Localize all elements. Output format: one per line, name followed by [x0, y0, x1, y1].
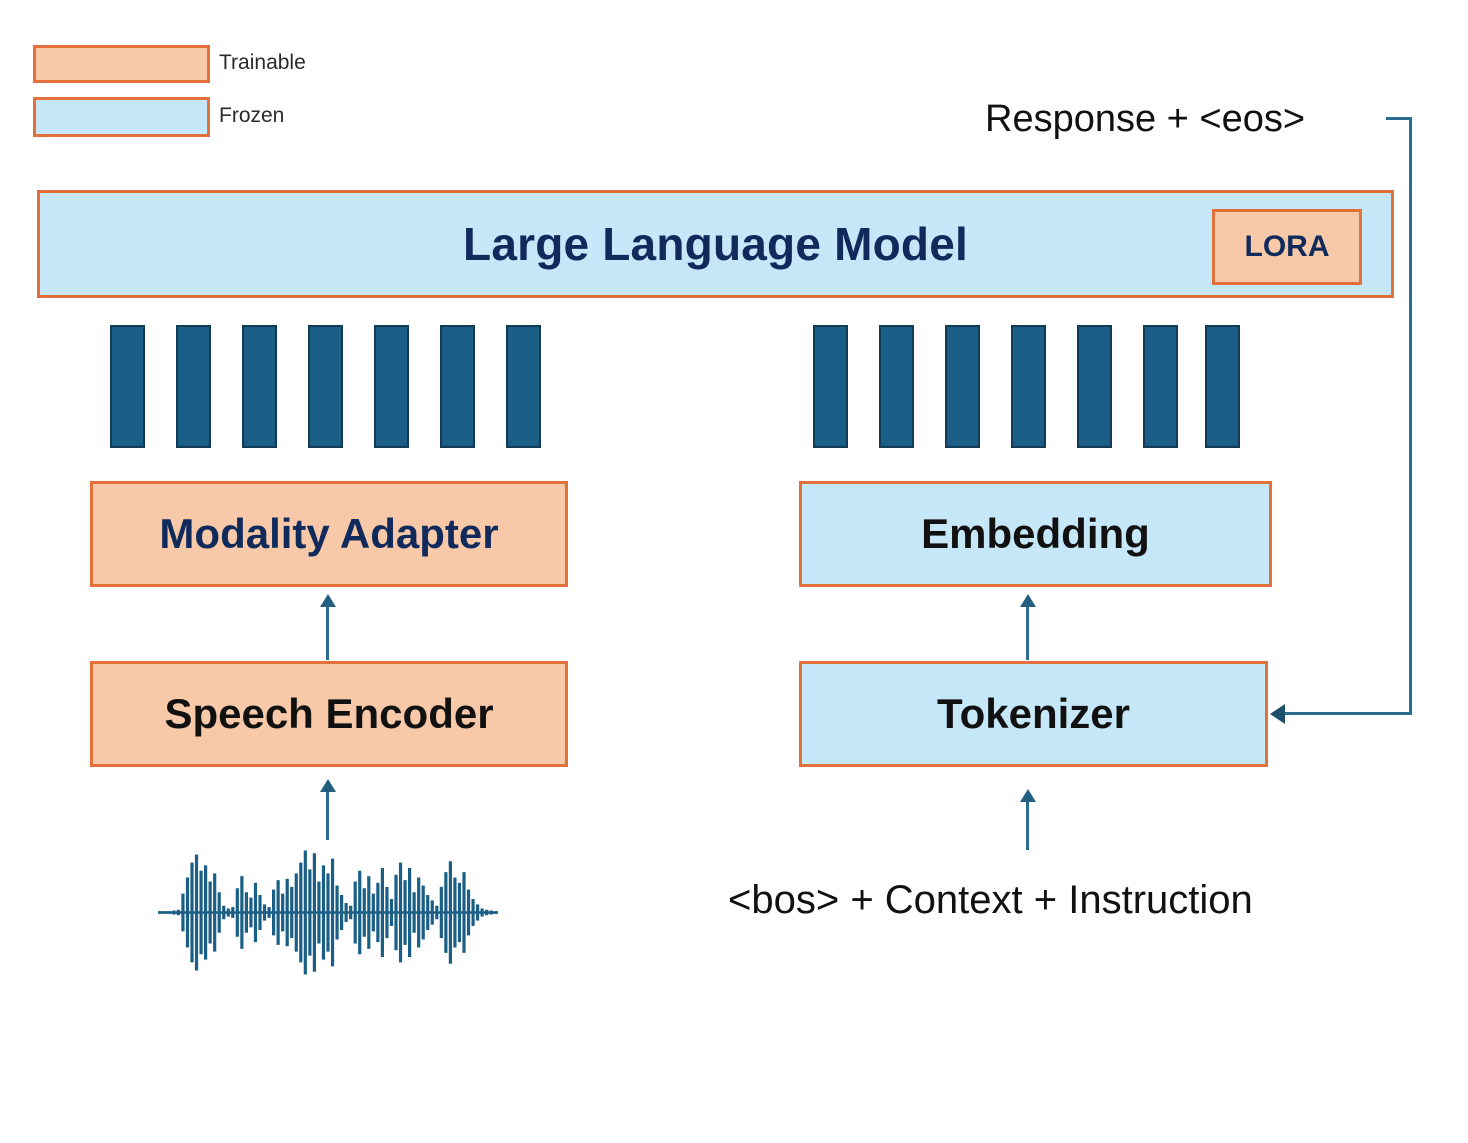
- diagram-canvas: Trainable Frozen Response + <eos> Large …: [0, 0, 1468, 1143]
- token-bar: [813, 325, 848, 448]
- arrow-prompt-to-tokenizer: [1026, 800, 1029, 850]
- legend-swatch-frozen: [33, 97, 210, 137]
- node-label-large-language-model: Large Language Model: [463, 220, 968, 268]
- token-bar: [1011, 325, 1046, 448]
- node-label-tokenizer: Tokenizer: [937, 692, 1130, 736]
- legend-label-frozen: Frozen: [219, 104, 284, 128]
- node-embedding[interactable]: Embedding: [799, 481, 1272, 587]
- arrow-waveform-to-speech-encoder: [326, 790, 329, 840]
- feedback-line-bottom: [1285, 712, 1412, 715]
- token-bar: [945, 325, 980, 448]
- legend-swatch-trainable: [33, 45, 210, 83]
- node-label-lora: LORA: [1245, 231, 1330, 263]
- node-lora[interactable]: LORA: [1212, 209, 1362, 285]
- token-bar: [176, 325, 211, 448]
- token-bar: [1205, 325, 1240, 448]
- node-label-embedding: Embedding: [921, 512, 1150, 556]
- node-speech-encoder[interactable]: Speech Encoder: [90, 661, 568, 767]
- arrow-speech-encoder-to-modality-adapter: [326, 605, 329, 660]
- token-bar: [440, 325, 475, 448]
- token-bar: [1143, 325, 1178, 448]
- token-bar: [1077, 325, 1112, 448]
- token-bar: [308, 325, 343, 448]
- token-bar: [879, 325, 914, 448]
- prompt-label: <bos> + Context + Instruction: [728, 878, 1253, 923]
- token-bar: [506, 325, 541, 448]
- audio-waveform: [158, 845, 498, 980]
- node-modality-adapter[interactable]: Modality Adapter: [90, 481, 568, 587]
- token-bar: [242, 325, 277, 448]
- node-large-language-model[interactable]: Large Language Model: [37, 190, 1394, 298]
- node-tokenizer[interactable]: Tokenizer: [799, 661, 1268, 767]
- legend-label-trainable: Trainable: [219, 51, 306, 75]
- arrow-tokenizer-to-embedding: [1026, 605, 1029, 660]
- response-label: Response + <eos>: [985, 98, 1305, 141]
- node-label-speech-encoder: Speech Encoder: [164, 692, 493, 736]
- node-label-modality-adapter: Modality Adapter: [159, 512, 498, 556]
- feedback-arrow-head-icon: [1270, 704, 1285, 724]
- feedback-line-right: [1409, 117, 1412, 715]
- audio-waveform-icon: [158, 845, 498, 980]
- token-bar: [374, 325, 409, 448]
- token-bar: [110, 325, 145, 448]
